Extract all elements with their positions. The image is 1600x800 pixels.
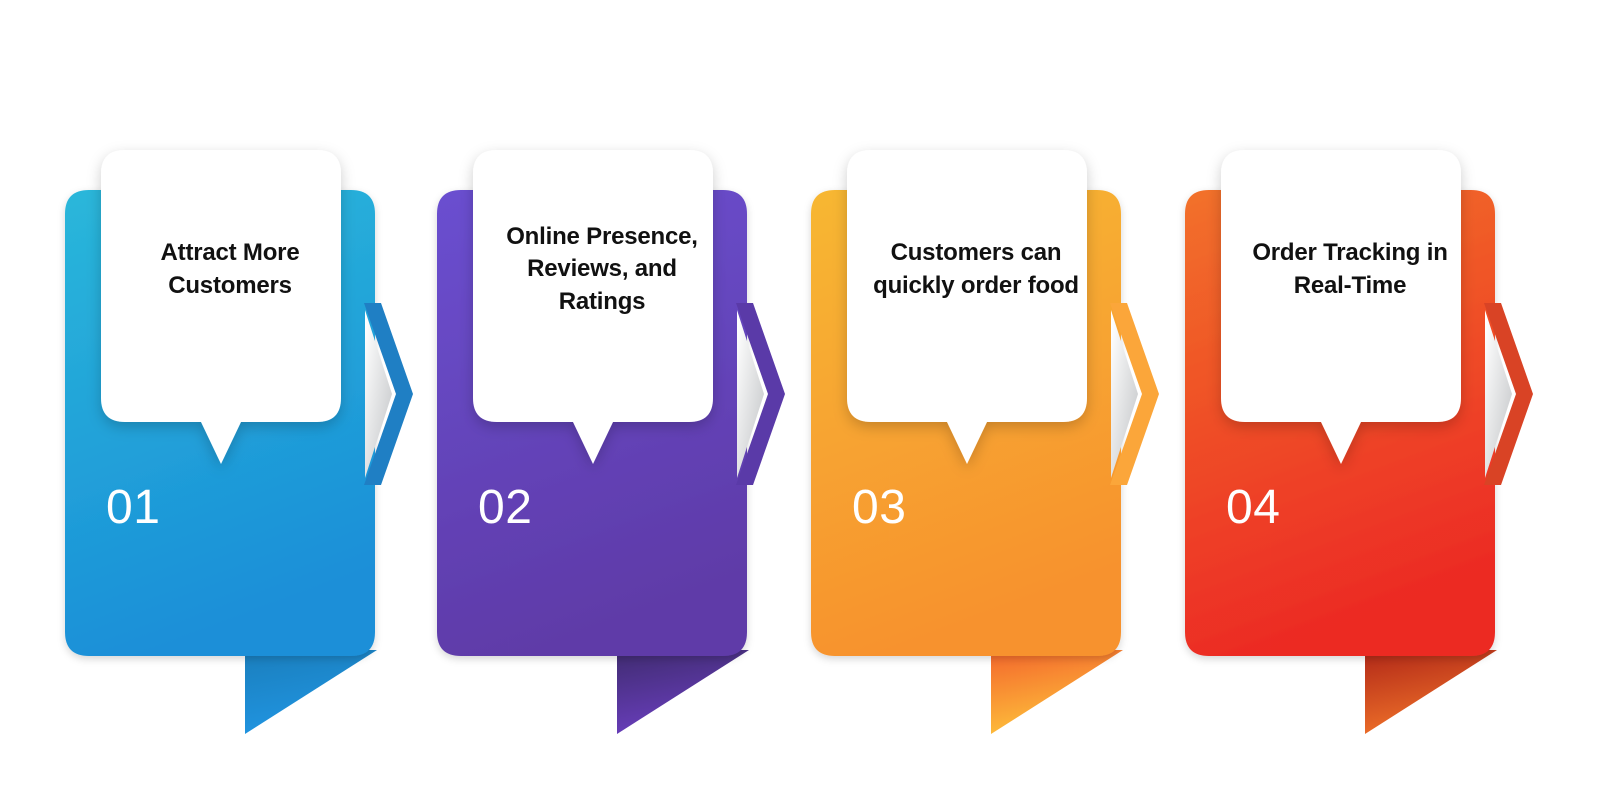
card-bubble	[473, 150, 713, 464]
step-card-graphic	[65, 0, 465, 800]
card-bubble	[101, 150, 341, 464]
step-card-02[interactable]: Online Presence, Reviews, and Ratings 02	[437, 0, 837, 800]
card-bubble	[847, 150, 1087, 464]
step-card-04[interactable]: Order Tracking in Real-Time 04	[1185, 0, 1585, 800]
card-bubble	[1221, 150, 1461, 464]
step-card-03[interactable]: Customers can quickly order food 03	[811, 0, 1211, 800]
card-tail	[245, 650, 377, 734]
step-card-graphic	[437, 0, 837, 800]
step-card-graphic	[811, 0, 1211, 800]
card-tail	[991, 650, 1123, 734]
infographic-root: Attract More Customers 01	[0, 0, 1600, 800]
step-card-graphic	[1185, 0, 1585, 800]
card-tail	[617, 650, 749, 734]
card-tail	[1365, 650, 1497, 734]
step-card-01[interactable]: Attract More Customers 01	[65, 0, 465, 800]
